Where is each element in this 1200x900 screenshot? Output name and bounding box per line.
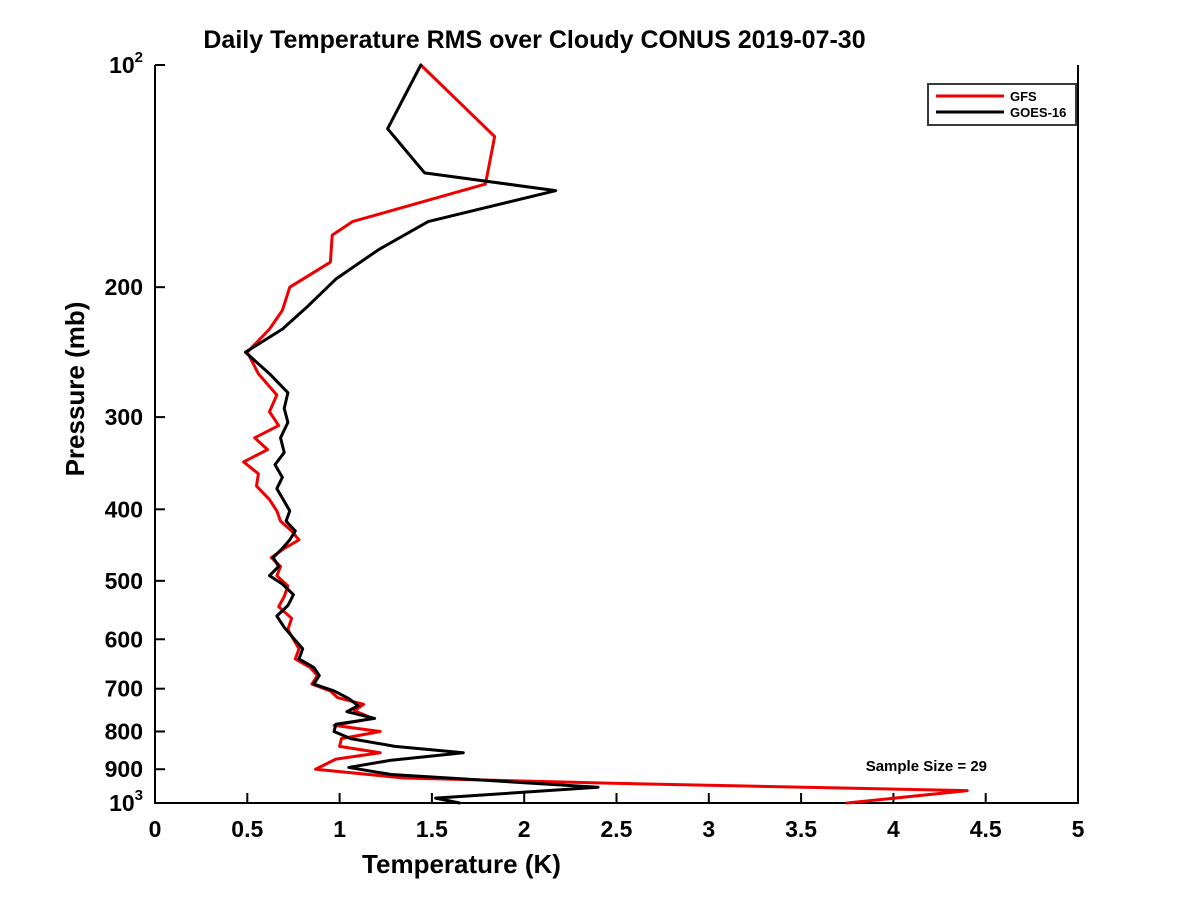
axis-frame <box>155 65 1078 803</box>
x-tick-label: 3.5 <box>785 816 817 842</box>
y-tick-label: 400 <box>105 496 143 522</box>
y-tick-label: 500 <box>105 568 143 594</box>
chart-figure: Daily Temperature RMS over Cloudy CONUS … <box>0 0 1200 900</box>
page-title: Daily Temperature RMS over Cloudy CONUS … <box>203 26 865 54</box>
x-tick-label: 0.5 <box>231 816 263 842</box>
x-tick-label: 2.5 <box>601 816 633 842</box>
legend-label-goes-16: GOES-16 <box>1010 105 1066 120</box>
x-tick-label: 4 <box>887 816 900 842</box>
legend-label-gfs: GFS <box>1010 89 1037 104</box>
y-tick-label: 300 <box>105 404 143 430</box>
x-axis-title: Temperature (K) <box>362 849 561 879</box>
y-tick-label: 900 <box>105 756 143 782</box>
series-line-gfs <box>244 65 968 803</box>
y-axis-title: Pressure (mb) <box>60 302 90 477</box>
x-tick-label: 3 <box>702 816 715 842</box>
annotation-sample-size: Sample Size = 29 <box>866 758 987 775</box>
x-tick-label: 0 <box>149 816 162 842</box>
x-tick-label: 4.5 <box>970 816 1002 842</box>
x-tick-label: 1.5 <box>416 816 448 842</box>
y-tick-label: 102 <box>109 49 143 78</box>
y-tick-label: 700 <box>105 676 143 702</box>
y-tick-label: 103 <box>109 787 143 816</box>
y-tick-label: 800 <box>105 718 143 744</box>
y-tick-label: 200 <box>105 274 143 300</box>
x-tick-label: 1 <box>333 816 346 842</box>
y-tick-label: 600 <box>105 626 143 652</box>
series-line-goes-16 <box>245 65 598 803</box>
x-tick-label: 2 <box>518 816 531 842</box>
temperature-rms-profile-chart: Daily Temperature RMS over Cloudy CONUS … <box>0 0 1200 900</box>
x-tick-label: 5 <box>1072 816 1085 842</box>
